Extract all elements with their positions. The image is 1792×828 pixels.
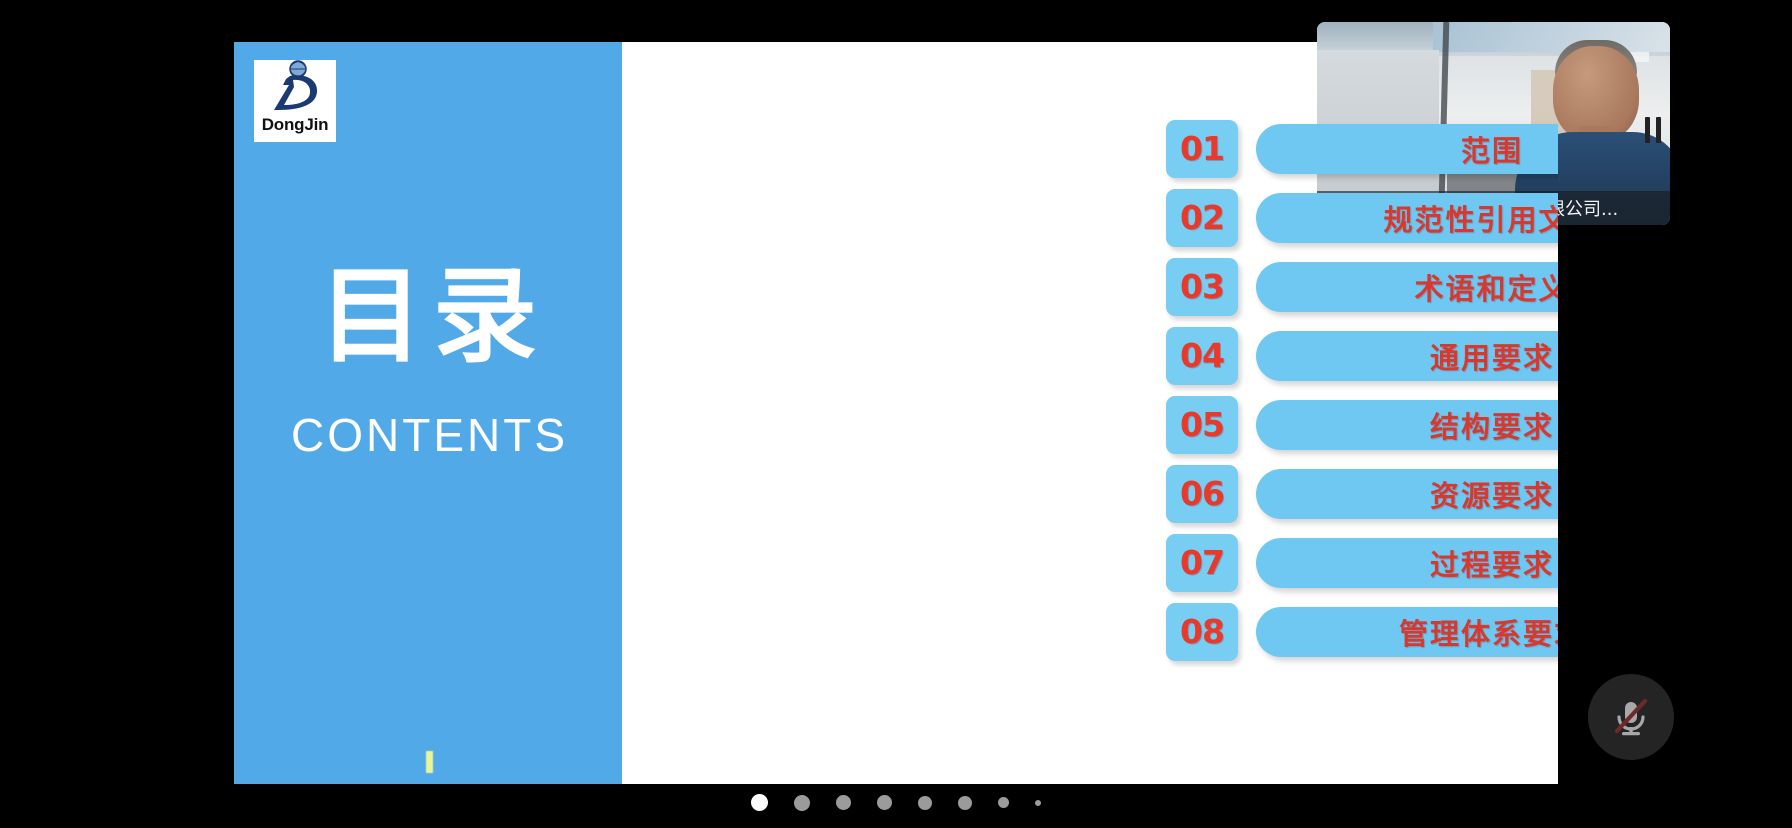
- cursor-mark: [426, 751, 433, 773]
- slide-title-en: CONTENTS: [234, 412, 622, 458]
- agenda-item-label: 通用要求: [1428, 335, 1554, 377]
- pagination-dot[interactable]: [918, 796, 932, 810]
- agenda-item: 04通用要求: [1166, 321, 1558, 390]
- slide-pagination-dots[interactable]: [0, 794, 1792, 811]
- agenda-item: 01范围: [1166, 114, 1558, 183]
- agenda-item-number-box: 06: [1166, 465, 1238, 523]
- agenda-item-pill: 管理体系要求: [1256, 607, 1558, 657]
- agenda-item-number-box: 03: [1166, 258, 1238, 316]
- agenda-item-number-box: 08: [1166, 603, 1238, 661]
- agenda-item-number-box: 02: [1166, 189, 1238, 247]
- agenda-item: 02规范性引用文件: [1166, 183, 1558, 252]
- agenda-item-number-box: 05: [1166, 396, 1238, 454]
- agenda-item-number: 02: [1180, 198, 1224, 237]
- pagination-dot[interactable]: [836, 795, 851, 810]
- pause-icon[interactable]: [1645, 117, 1661, 143]
- slide-title-cn: 目录: [234, 264, 622, 368]
- agenda-item-pill: 规范性引用文件: [1256, 193, 1558, 243]
- presentation-slide: DongJin 目录 CONTENTS 01范围02规范性引用文件03术语和定义…: [234, 42, 1558, 784]
- agenda-item-number: 04: [1180, 336, 1224, 375]
- agenda-item-pill: 术语和定义: [1256, 262, 1558, 312]
- mute-toggle-button[interactable]: [1588, 674, 1674, 760]
- pagination-dot[interactable]: [877, 795, 892, 810]
- logo-text: DongJin: [262, 116, 329, 134]
- agenda-item-pill: 范围: [1256, 124, 1558, 174]
- agenda-item-number: 05: [1180, 405, 1224, 444]
- agenda-item-label: 资源要求: [1428, 473, 1554, 515]
- agenda-item-pill: 通用要求: [1256, 331, 1558, 381]
- agenda-item-label: 过程要求: [1428, 542, 1554, 584]
- slide-left-panel: DongJin 目录 CONTENTS: [234, 42, 622, 784]
- dongjin-logo: DongJin: [254, 60, 336, 142]
- screen-root: DongJin 目录 CONTENTS 01范围02规范性引用文件03术语和定义…: [0, 0, 1792, 828]
- agenda-item-number-box: 04: [1166, 327, 1238, 385]
- agenda-item: 07过程要求: [1166, 528, 1558, 597]
- agenda-item-pill: 资源要求: [1256, 469, 1558, 519]
- agenda-item-label: 范围: [1459, 128, 1523, 170]
- agenda-item-label: 规范性引用文件: [1381, 197, 1558, 239]
- agenda-item-pill: 过程要求: [1256, 538, 1558, 588]
- agenda-list: 01范围02规范性引用文件03术语和定义04通用要求05结构要求06资源要求07…: [1166, 114, 1558, 666]
- video-ceiling-panel: [1433, 22, 1670, 52]
- pagination-dot[interactable]: [751, 794, 768, 811]
- agenda-item: 03术语和定义: [1166, 252, 1558, 321]
- agenda-item-number-box: 01: [1166, 120, 1238, 178]
- agenda-item-number: 06: [1180, 474, 1224, 513]
- agenda-item: 08管理体系要求: [1166, 597, 1558, 666]
- agenda-item: 06资源要求: [1166, 459, 1558, 528]
- agenda-item-number: 01: [1180, 129, 1224, 168]
- agenda-item-label: 结构要求: [1428, 404, 1554, 446]
- dongjin-d-globe-icon: [260, 60, 330, 118]
- agenda-item-label: 管理体系要求: [1397, 611, 1558, 653]
- agenda-item-label: 术语和定义: [1412, 266, 1558, 308]
- agenda-item: 05结构要求: [1166, 390, 1558, 459]
- agenda-item-number: 08: [1180, 612, 1224, 651]
- agenda-item-pill: 结构要求: [1256, 400, 1558, 450]
- microphone-muted-icon: [1607, 693, 1655, 741]
- slide-right-panel: 01范围02规范性引用文件03术语和定义04通用要求05结构要求06资源要求07…: [622, 42, 1558, 784]
- pagination-dot[interactable]: [958, 796, 972, 810]
- pagination-dot[interactable]: [1035, 800, 1041, 806]
- agenda-item-number: 07: [1180, 543, 1224, 582]
- agenda-item-number: 03: [1180, 267, 1224, 306]
- pagination-dot[interactable]: [998, 797, 1009, 808]
- pagination-dot[interactable]: [794, 795, 810, 811]
- agenda-item-number-box: 07: [1166, 534, 1238, 592]
